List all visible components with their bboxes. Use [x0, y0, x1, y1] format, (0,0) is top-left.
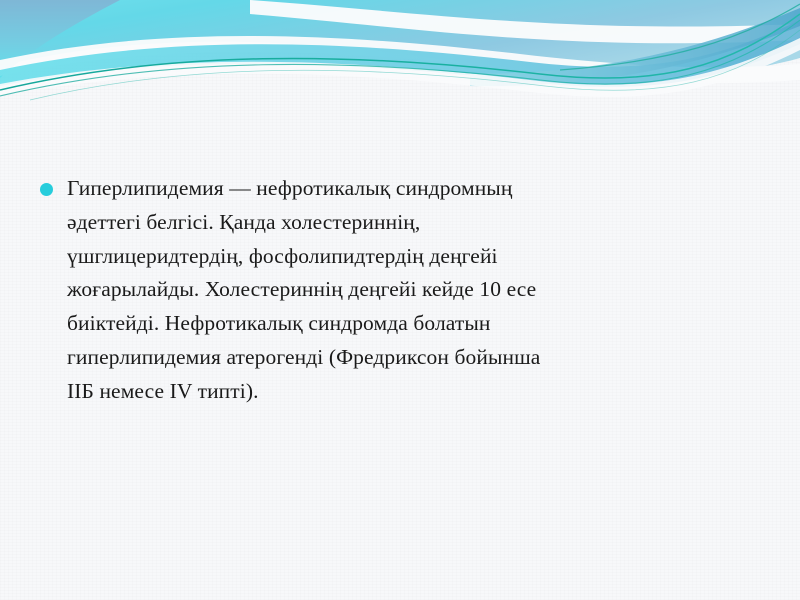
bullet-line: IIБ немесе IV типті).	[67, 375, 760, 409]
presentation-slide: Гиперлипидемия — нефротикалық синдромның…	[0, 0, 800, 600]
bullet-paragraph: Гиперлипидемия — нефротикалық синдромның…	[67, 172, 760, 409]
bullet-line: гиперлипидемия атерогенді (Фредриксон бо…	[67, 341, 760, 375]
bullet-line: Гиперлипидемия — нефротикалық синдромның	[67, 172, 760, 206]
bullet-line: әдеттегі белгісі. Қанда холестериннің,	[67, 206, 760, 240]
bullet-list-item: Гиперлипидемия — нефротикалық синдромның…	[40, 172, 760, 409]
bullet-line: жоғарылайды. Холестериннің деңгейі кейде…	[67, 273, 760, 307]
bullet-line: үшглицеридтердің, фосфолипидтердің деңге…	[67, 240, 760, 274]
slide-content-body: Гиперлипидемия — нефротикалық синдромның…	[0, 0, 800, 600]
filled-circle-bullet-icon	[40, 183, 53, 196]
bullet-line: биіктейді. Нефротикалық синдромда болаты…	[67, 307, 760, 341]
